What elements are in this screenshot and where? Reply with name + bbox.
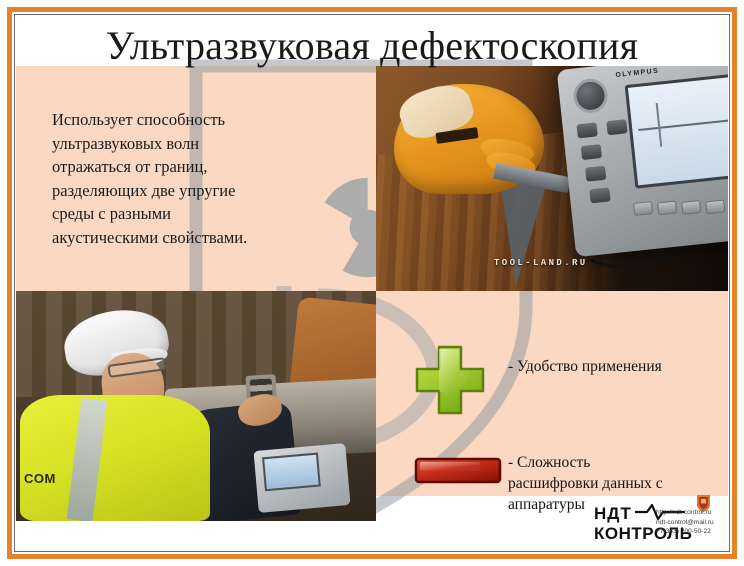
- slide-frame: OLYMPUS TOOL-LAND.RU: [0, 0, 744, 566]
- detector-key: [633, 201, 653, 216]
- slide-canvas: OLYMPUS TOOL-LAND.RU: [16, 16, 728, 550]
- photo-watermark-text: TOOL-LAND.RU: [494, 258, 588, 268]
- slide-title: Ультразвуковая дефектоскопия: [16, 22, 728, 70]
- description-paragraph: Использует способность ультразвуковых во…: [52, 108, 320, 249]
- detector-button: [576, 122, 597, 138]
- contact-website[interactable]: http://ndt-control.ru: [656, 508, 728, 518]
- detector-button: [606, 119, 627, 135]
- vest-logo-text: COM: [24, 471, 56, 486]
- minus-icon: [414, 457, 502, 484]
- photo-probe-and-detector: OLYMPUS TOOL-LAND.RU: [376, 66, 728, 291]
- advantage-text: - Удобство применения: [508, 356, 718, 377]
- description-line: Использует способность: [52, 108, 320, 132]
- logo-line-ndt: НДТ: [594, 504, 632, 524]
- a-scan-peak: [656, 103, 663, 147]
- detector-key: [705, 199, 725, 214]
- description-line: акустическими свойствами.: [52, 226, 320, 250]
- hi-vis-vest: [20, 395, 210, 521]
- detector-screen: [625, 74, 728, 189]
- disadvantage-line: - Сложность: [508, 452, 708, 473]
- description-line: разделяющих две упругие: [52, 179, 320, 203]
- contact-phone: +7(343) 200-50-22: [656, 527, 728, 537]
- a-scan-trace: [638, 119, 728, 131]
- photo-inspector-at-work: COM: [16, 291, 376, 521]
- detector-key: [681, 200, 701, 215]
- detector-button: [581, 144, 602, 160]
- detector-key: [657, 200, 677, 215]
- description-line: среды с разными: [52, 202, 320, 226]
- plus-icon: [414, 344, 486, 416]
- detector-button: [589, 187, 610, 203]
- portable-flaw-detector: [253, 443, 350, 513]
- olympus-flaw-detector: OLYMPUS: [557, 66, 728, 257]
- description-line: ультразвуковых волн: [52, 132, 320, 156]
- disadvantage-line: расшифровки данных с: [508, 473, 708, 494]
- detector-button: [585, 166, 606, 182]
- contact-email[interactable]: ndt-control@mail.ru: [656, 518, 728, 528]
- detector-screen: [262, 453, 321, 492]
- detector-knob: [572, 77, 609, 114]
- description-line: отражаться от границ,: [52, 155, 320, 179]
- contact-info: http://ndt-control.ru ndt-control@mail.r…: [656, 508, 728, 537]
